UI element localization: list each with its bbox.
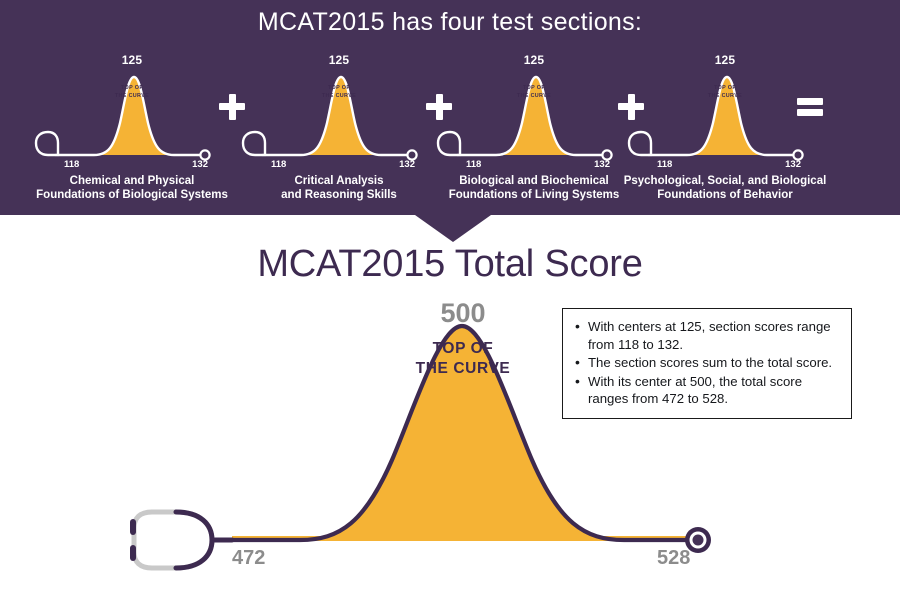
section-peak-label: 125 [436,53,632,67]
total-score-max-label: 528 [657,547,690,570]
section-bell-curve-svg [627,55,823,175]
section-curve-psychological-social: 125 TOP OF THE CURVE 118 132 Psychologic… [627,55,823,210]
section-top-of-curve-label: TOP OF THE CURVE [436,85,632,101]
total-score-peak-label: 500 [388,298,538,329]
legend-item: With its center at 500, the total score … [573,373,839,408]
section-min-label: 118 [657,159,672,170]
section-name-line2: Foundations of Behavior [621,188,829,202]
section-name-label: Critical Analysis and Reasoning Skills [235,174,443,203]
top-of-curve-line2: THE CURVE [241,93,437,101]
section-name-label: Psychological, Social, and Biological Fo… [621,174,829,203]
section-curve-chemical-physical: 125 TOP OF THE CURVE 118 132 Chemical an… [34,55,230,210]
section-max-label: 132 [594,159,610,170]
section-curve-critical-analysis: 125 TOP OF THE CURVE 118 132 Critical An… [241,55,437,210]
top-of-curve-line1: TOP OF [34,85,230,93]
section-min-label: 118 [466,159,481,170]
top-of-curve-line2: THE CURVE [34,93,230,101]
top-of-curve-line2: THE CURVE [436,93,632,101]
section-name-line2: Foundations of Biological Systems [28,188,236,202]
section-name-line1: Psychological, Social, and Biological [621,174,829,188]
section-top-of-curve-label: TOP OF THE CURVE [241,85,437,101]
section-bell-curve-svg [436,55,632,175]
section-name-label: Chemical and Physical Foundations of Bio… [28,174,236,203]
section-bell-curve-svg [34,55,230,175]
section-min-label: 118 [64,159,79,170]
total-score-top-of-curve-label: TOP OF THE CURVE [388,339,538,379]
section-max-label: 132 [192,159,208,170]
header-arrow-down [415,215,491,242]
top-of-curve-line1: TOP OF [436,85,632,93]
legend-box: With centers at 125, section scores rang… [562,308,852,419]
section-name-line2: and Reasoning Skills [235,188,443,202]
section-curve-biological-biochemical: 125 TOP OF THE CURVE 118 132 Biological … [436,55,632,210]
section-name-line1: Chemical and Physical [28,174,236,188]
section-min-label: 118 [271,159,286,170]
total-score-min-label: 472 [232,547,265,570]
section-max-label: 132 [399,159,415,170]
main-title: MCAT2015 Total Score [0,243,900,286]
section-peak-label: 125 [627,53,823,67]
top-of-curve-line2: THE CURVE [388,359,538,379]
plus-vertical-bar [229,94,236,120]
section-peak-label: 125 [34,53,230,67]
header-title: MCAT2015 has four test sections: [0,8,900,37]
equals-bottom-bar [797,109,823,116]
section-name-line1: Biological and Biochemical [430,174,638,188]
section-top-of-curve-label: TOP OF THE CURVE [627,85,823,101]
section-bell-curve-svg [241,55,437,175]
legend-list: With centers at 125, section scores rang… [573,318,839,408]
section-max-label: 132 [785,159,801,170]
legend-item: With centers at 125, section scores rang… [573,318,839,353]
operator-equals [795,92,825,122]
legend-item: The section scores sum to the total scor… [573,354,839,372]
top-of-curve-line2: THE CURVE [627,93,823,101]
top-of-curve-line1: TOP OF [388,339,538,359]
section-name-line2: Foundations of Living Systems [430,188,638,202]
section-peak-label: 125 [241,53,437,67]
section-name-line1: Critical Analysis [235,174,443,188]
section-name-label: Biological and Biochemical Foundations o… [430,174,638,203]
equals-top-bar [797,98,823,105]
section-top-of-curve-label: TOP OF THE CURVE [34,85,230,101]
top-of-curve-line1: TOP OF [627,85,823,93]
top-of-curve-line1: TOP OF [241,85,437,93]
